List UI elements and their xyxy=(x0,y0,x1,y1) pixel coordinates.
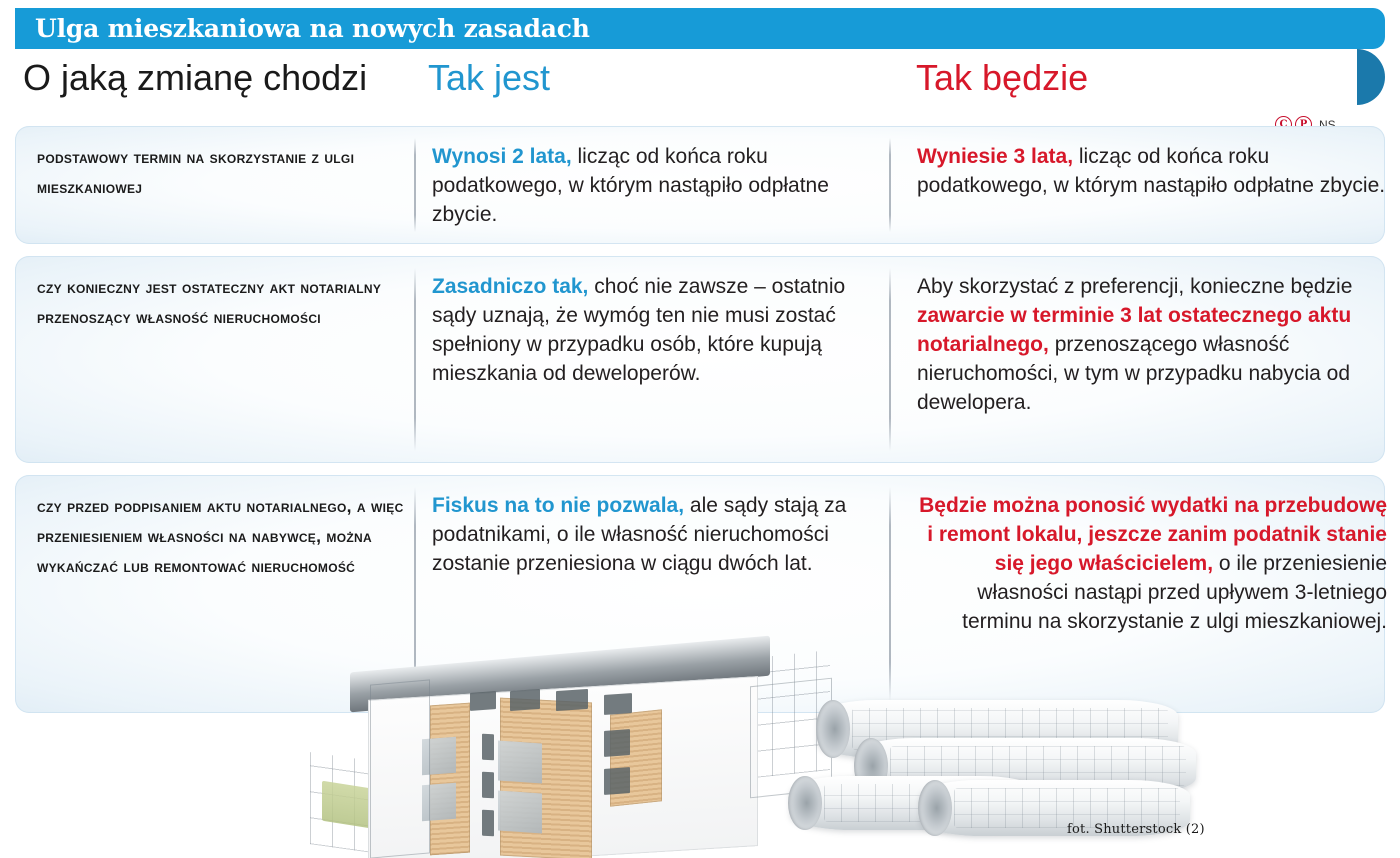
table-row: Podstawowy termin na skorzystanie z ulgi… xyxy=(15,126,1385,244)
window xyxy=(482,810,494,837)
row-question-text: Czy przed podpisaniem aktu notarialnego,… xyxy=(37,491,407,581)
blueprint-roll xyxy=(856,738,1196,794)
table-row: Czy przed podpisaniem aktu notarialnego,… xyxy=(15,475,1385,713)
blueprint-drawing-lines xyxy=(852,708,1168,750)
column-heading-will: Tak będzie xyxy=(916,56,1088,100)
column-divider xyxy=(889,268,891,451)
window xyxy=(482,734,494,761)
column-divider xyxy=(414,268,416,451)
row-question-text: Podstawowy termin na skorzystanie z ulgi… xyxy=(37,142,407,202)
blueprint-drawing-lines xyxy=(890,746,1186,786)
row-question-cell: Czy konieczny jest ostateczny akt notari… xyxy=(37,272,407,332)
wood-cladding-panel xyxy=(430,703,470,856)
row-now-text: Zasadniczo tak, choć nie zawsze – ostatn… xyxy=(432,272,882,388)
row-question-cell: Czy przed podpisaniem aktu notarialnego,… xyxy=(37,491,407,581)
row-will-cell: Będzie można ponosić wydatki na przebudo… xyxy=(917,491,1387,636)
row-now-cell: Fiskus na to nie pozwala, ale sądy stają… xyxy=(432,491,882,578)
balcony-glass xyxy=(422,737,456,775)
header-title-bar: Ulga mieszkaniowa na nowych zasadach xyxy=(15,8,1385,49)
rolled-blueprints-image xyxy=(790,692,1200,842)
row-now-text: Wynosi 2 lata, licząc od końca roku poda… xyxy=(432,142,882,229)
balcony-glass xyxy=(422,783,456,821)
column-heading-now: Tak jest xyxy=(428,56,550,100)
balcony-glass xyxy=(498,740,542,783)
row-will-cell: Aby skorzystać z preferencji, konieczne … xyxy=(917,272,1387,417)
blueprint-roll xyxy=(790,776,1040,830)
row-will-cell: Wyniesie 3 lata, licząc od końca roku po… xyxy=(917,142,1387,200)
window xyxy=(604,767,630,795)
window xyxy=(482,772,494,799)
row-now-cell: Zasadniczo tak, choć nie zawsze – ostatn… xyxy=(432,272,882,388)
column-divider xyxy=(414,487,416,701)
column-divider xyxy=(414,138,416,232)
column-divider xyxy=(889,138,891,232)
wood-cladding-panel xyxy=(610,709,662,806)
row-now-text: Fiskus na to nie pozwala, ale sądy stają… xyxy=(432,491,882,578)
now-lead: Zasadniczo tak, xyxy=(432,275,588,298)
now-lead: Wynosi 2 lata, xyxy=(432,145,572,168)
will-pre: Aby skorzystać z preferencji, konieczne … xyxy=(917,275,1352,298)
will-lead: Wyniesie 3 lata, xyxy=(917,145,1073,168)
photo-credit: fot. Shutterstock (2) xyxy=(1067,822,1205,837)
row-will-text: Aby skorzystać z preferencji, konieczne … xyxy=(917,272,1387,417)
wireframe-block xyxy=(310,752,450,858)
row-question-text: Czy konieczny jest ostateczny akt notari… xyxy=(37,272,407,332)
page-title: Ulga mieszkaniowa na nowych zasadach xyxy=(35,14,590,43)
row-will-text: Wyniesie 3 lata, licząc od końca roku po… xyxy=(917,142,1387,200)
row-now-cell: Wynosi 2 lata, licząc od końca roku poda… xyxy=(432,142,882,229)
lawn-area xyxy=(322,781,440,840)
column-headings: O jaką zmianę chodzi Tak jest Tak będzie… xyxy=(0,56,1400,116)
wood-cladding-panel xyxy=(500,698,592,858)
window xyxy=(604,729,630,757)
row-question-cell: Podstawowy termin na skorzystanie z ulgi… xyxy=(37,142,407,202)
row-will-text: Będzie można ponosić wydatki na przebudo… xyxy=(917,491,1387,636)
column-heading-question: O jaką zmianę chodzi xyxy=(23,56,367,100)
table-row: Czy konieczny jest ostateczny akt notari… xyxy=(15,256,1385,463)
blueprint-drawing-lines xyxy=(824,784,1030,823)
now-lead: Fiskus na to nie pozwala, xyxy=(432,494,684,517)
column-divider xyxy=(889,487,891,701)
balcony-glass xyxy=(498,790,542,833)
